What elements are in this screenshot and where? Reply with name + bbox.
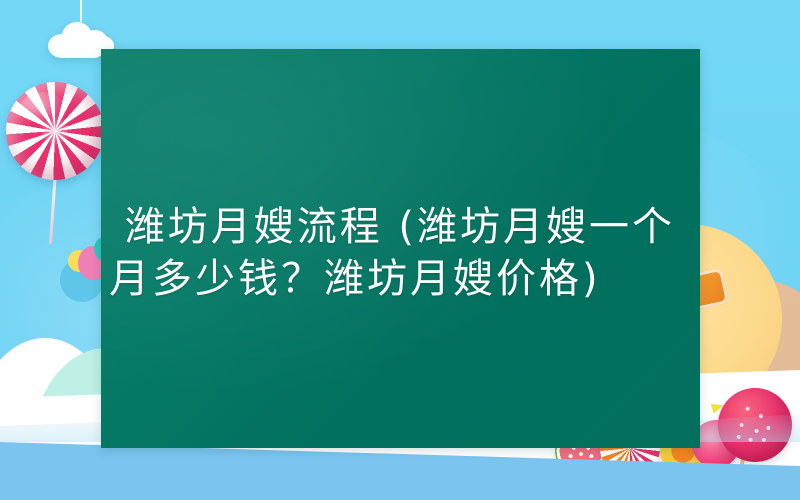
pinwheel-lollipop-icon: [6, 82, 104, 180]
cloud-string: [80, 0, 82, 22]
chalkboard-panel: 潍坊月嫂流程 (潍坊月嫂一个月多少钱？潍坊月嫂价格): [101, 49, 700, 448]
poster-canvas: 潍坊月嫂流程 (潍坊月嫂一个月多少钱？潍坊月嫂价格): [0, 0, 800, 500]
lollipop-gloss: [20, 92, 65, 125]
poster-headline: 潍坊月嫂流程 (潍坊月嫂一个月多少钱？潍坊月嫂价格): [109, 201, 700, 305]
